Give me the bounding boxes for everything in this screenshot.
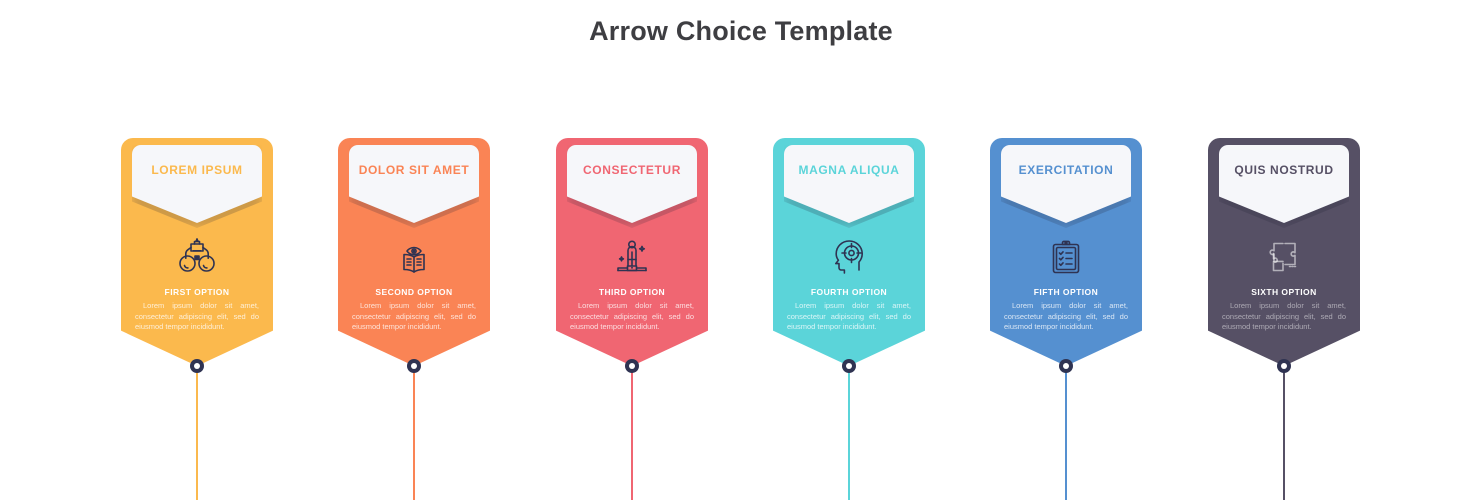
- podium-winner-icon: [556, 236, 708, 278]
- card-header-title: DOLOR SIT AMET: [349, 145, 479, 195]
- option-label: FIRST OPTION: [121, 287, 273, 297]
- head-target-icon: [773, 236, 925, 278]
- connector-line: [631, 366, 633, 500]
- connector-dot[interactable]: [190, 359, 204, 373]
- option-card-3[interactable]: CONSECTETURTHIRD OPTIONLorem ipsum dolor…: [556, 138, 708, 500]
- card-header-title: QUIS NOSTRUD: [1219, 145, 1349, 195]
- book-eye-icon: [338, 236, 490, 278]
- option-card-5[interactable]: EXERCITATIONFIFTH OPTIONLorem ipsum dolo…: [990, 138, 1142, 500]
- option-label: SIXTH OPTION: [1208, 287, 1360, 297]
- connector-dot[interactable]: [407, 359, 421, 373]
- card-header-title: MAGNA ALIQUA: [784, 145, 914, 195]
- option-description: Lorem ipsum dolor sit amet, consectetur …: [1222, 301, 1346, 333]
- card-header-title: LOREM IPSUM: [132, 145, 262, 195]
- option-label: SECOND OPTION: [338, 287, 490, 297]
- option-card-6[interactable]: QUIS NOSTRUDSIXTH OPTIONLorem ipsum dolo…: [1208, 138, 1360, 500]
- connector-dot[interactable]: [1059, 359, 1073, 373]
- connector-line: [413, 366, 415, 500]
- connector-dot[interactable]: [625, 359, 639, 373]
- clipboard-checklist-icon: [990, 236, 1142, 278]
- connector-dot[interactable]: [1277, 359, 1291, 373]
- connector-line: [848, 366, 850, 500]
- option-description: Lorem ipsum dolor sit amet, consectetur …: [570, 301, 694, 333]
- connector-line: [1065, 366, 1067, 500]
- option-card-4[interactable]: MAGNA ALIQUAFOURTH OPTIONLorem ipsum dol…: [773, 138, 925, 500]
- card-header-title: CONSECTETUR: [567, 145, 697, 195]
- page-title: Arrow Choice Template: [0, 16, 1482, 47]
- cards-row: LOREM IPSUMFIRST OPTIONLorem ipsum dolor…: [0, 138, 1482, 500]
- option-card-1[interactable]: LOREM IPSUMFIRST OPTIONLorem ipsum dolor…: [121, 138, 273, 500]
- option-description: Lorem ipsum dolor sit amet, consectetur …: [1004, 301, 1128, 333]
- connector-line: [196, 366, 198, 500]
- option-description: Lorem ipsum dolor sit amet, consectetur …: [787, 301, 911, 333]
- card-header-title: EXERCITATION: [1001, 145, 1131, 195]
- option-description: Lorem ipsum dolor sit amet, consectetur …: [352, 301, 476, 333]
- option-card-2[interactable]: DOLOR SIT AMETSECOND OPTIONLorem ipsum d…: [338, 138, 490, 500]
- option-label: THIRD OPTION: [556, 287, 708, 297]
- connector-dot[interactable]: [842, 359, 856, 373]
- option-label: FIFTH OPTION: [990, 287, 1142, 297]
- connector-line: [1283, 366, 1285, 500]
- puzzle-pieces-icon: [1208, 236, 1360, 278]
- binoculars-icon: [121, 236, 273, 278]
- option-description: Lorem ipsum dolor sit amet, consectetur …: [135, 301, 259, 333]
- option-label: FOURTH OPTION: [773, 287, 925, 297]
